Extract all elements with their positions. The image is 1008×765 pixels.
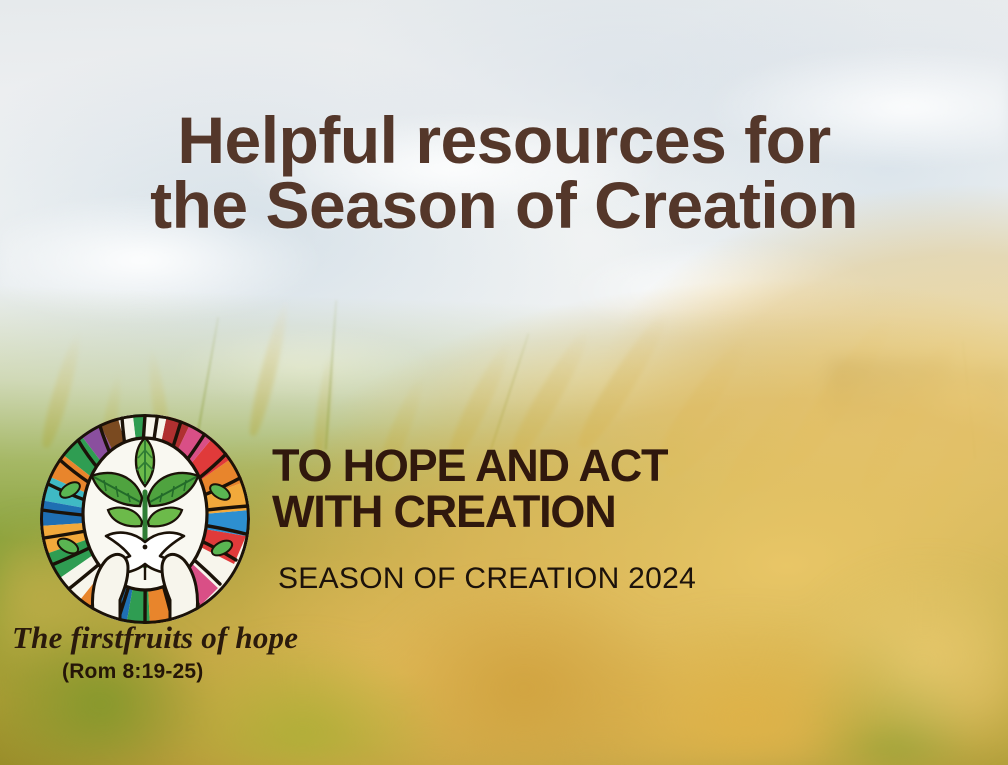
scripture-verse: The firstfruits of hope bbox=[12, 620, 298, 656]
page-title: Helpful resources for the Season of Crea… bbox=[0, 108, 1008, 239]
emblem-icon bbox=[40, 414, 250, 624]
season-of-creation-logo bbox=[40, 414, 250, 624]
season-label: SEASON OF CREATION 2024 bbox=[278, 562, 696, 596]
slogan-headline: TO HOPE AND ACT WITH CREATION bbox=[272, 443, 667, 535]
slide-canvas: Helpful resources for the Season of Crea… bbox=[0, 0, 1008, 765]
scripture-reference: (Rom 8:19-25) bbox=[62, 660, 203, 684]
